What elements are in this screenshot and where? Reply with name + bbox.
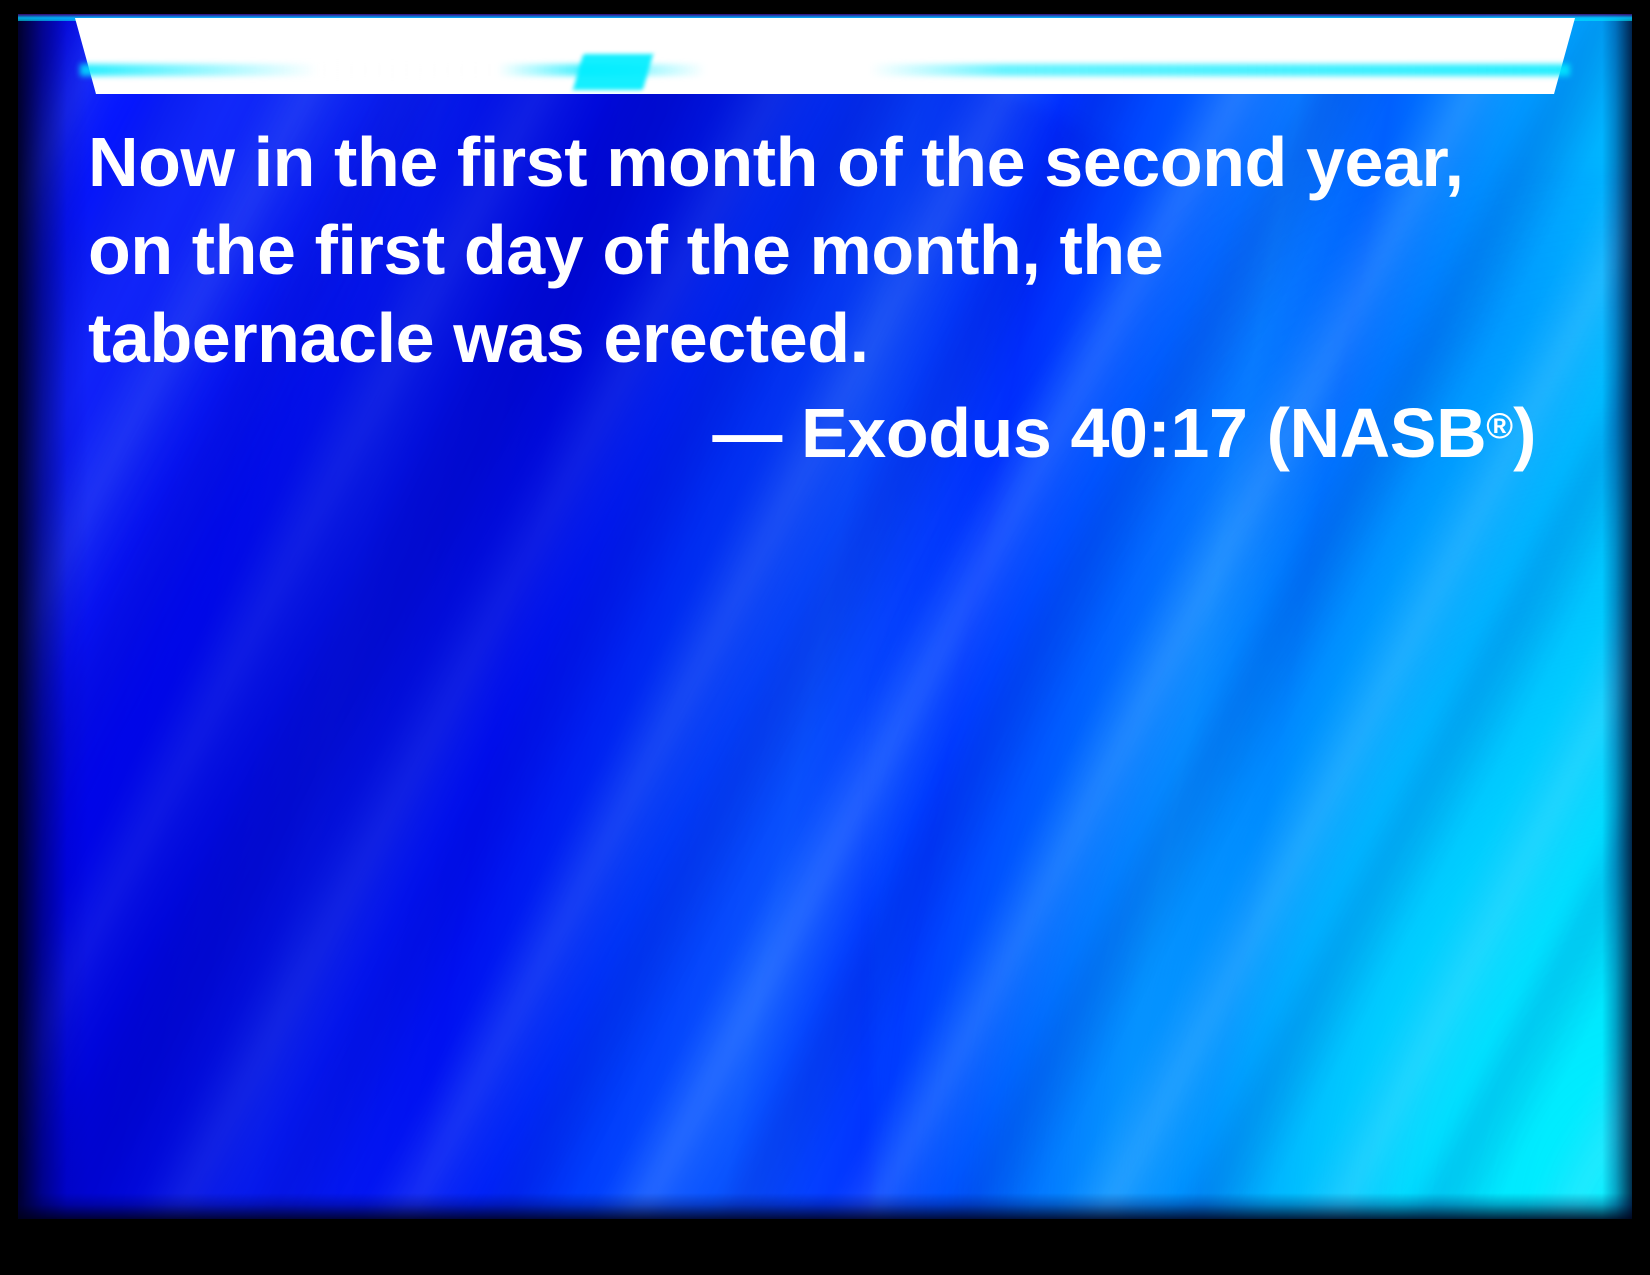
top-highlight-banner-area [18,14,1632,124]
background-left-shade [18,14,88,1219]
banner-cyan-highlight-line [80,64,1570,76]
scripture-attribution: — Exodus 40:17 (NASB®) [88,382,1538,477]
attribution-version-open-paren: (NASB [1267,394,1487,472]
white-banner-bar [75,18,1575,94]
scripture-quote-block: Now in the first month of the second yea… [88,118,1538,477]
background-bottom-shade [18,1193,1632,1219]
scripture-line-3: tabernacle was erected. [88,294,1538,382]
attribution-reference: Exodus 40:17 [801,394,1248,472]
registered-trademark-icon: ® [1486,405,1513,446]
scripture-slide: Now in the first month of the second yea… [0,0,1650,1275]
scripture-line-1: Now in the first month of the second yea… [88,118,1538,206]
scripture-line-2: on the first day of the month, the [88,206,1538,294]
attribution-version-close-paren: ) [1513,394,1536,472]
background-right-shade [1602,14,1632,1219]
attribution-em-dash: — [712,394,782,472]
banner-cyan-notch [573,54,653,90]
